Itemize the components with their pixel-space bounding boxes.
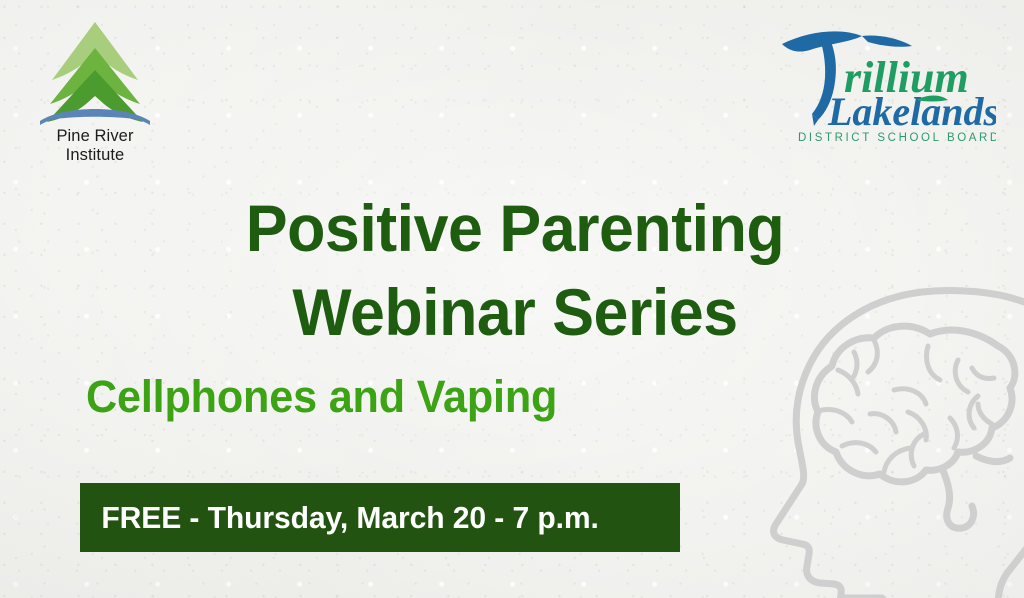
title-line-1: Positive Parenting <box>149 186 881 270</box>
pine-river-institute-logo: Pine River Institute <box>30 18 160 163</box>
page-title: Positive Parenting Webinar Series <box>149 186 881 354</box>
trillium-lakelands-text: Lakelands <box>827 89 996 134</box>
pine-river-institute-wordmark: Pine River Institute <box>30 127 160 165</box>
event-details-text: FREE - Thursday, March 20 - 7 p.m. <box>80 500 599 536</box>
pine-tree-icon <box>30 18 160 126</box>
tldsb-tagline-text: DISTRICT SCHOOL BOARD <box>798 132 996 144</box>
session-topic-subtitle: Cellphones and Vaping <box>86 368 557 426</box>
pine-river-line-1: Pine River <box>30 127 160 146</box>
event-details-banner: FREE - Thursday, March 20 - 7 p.m. <box>80 483 680 552</box>
webinar-promo-poster: Pine River Institute rillium Lakelands D… <box>0 0 1024 598</box>
pine-river-line-2: Institute <box>30 146 160 165</box>
trillium-lakelands-logo: rillium Lakelands DISTRICT SCHOOL BOARD <box>766 22 996 144</box>
title-line-2: Webinar Series <box>149 270 881 354</box>
